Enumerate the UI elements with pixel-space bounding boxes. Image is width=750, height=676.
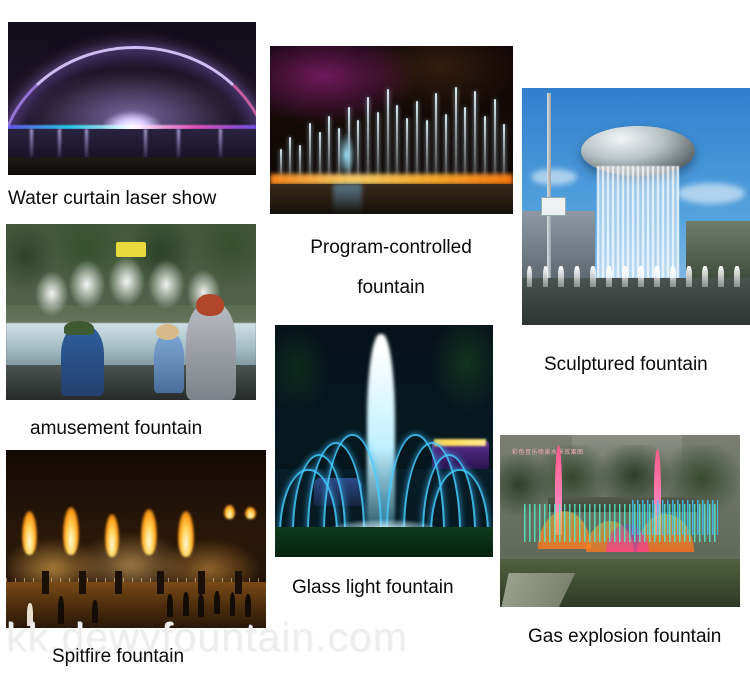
woman-head — [196, 294, 224, 315]
plaza-ground — [522, 278, 750, 325]
jet-array — [270, 76, 513, 180]
garden-path — [501, 573, 609, 607]
water-sheet — [597, 166, 679, 277]
photo-glass-light-fountain[interactable] — [275, 325, 493, 557]
child-head — [156, 324, 179, 340]
caption-program-controlled-fountain: Program-controlled fountain — [284, 228, 498, 308]
person-boy — [61, 326, 104, 396]
caption-glass-light-fountain: Glass light fountain — [292, 575, 502, 601]
photo-gas-explosion-fountain[interactable]: 彩色音乐喷泉水景效果图 — [500, 435, 740, 607]
lake-water — [270, 184, 513, 214]
caption-spitfire-fountain: Spitfire fountain — [52, 644, 272, 670]
caption-gas-explosion-fountain: Gas explosion fountain — [528, 624, 748, 650]
caption-line-2: fountain — [284, 268, 498, 308]
photo-amusement-fountain[interactable] — [6, 224, 256, 400]
fountain-gallery: kk.dewyfountain.com Water curtain laser … — [0, 0, 750, 676]
chinese-overlay-text: 彩色音乐喷泉水景效果图 — [512, 447, 584, 456]
caption-sculptured-fountain: Sculptured fountain — [544, 352, 744, 378]
spark-light — [245, 507, 255, 519]
fire-jet — [141, 509, 157, 555]
photo-program-controlled-fountain[interactable] — [270, 46, 513, 214]
street-sign — [541, 197, 566, 216]
blue-light-core — [338, 133, 355, 177]
fire-jet — [22, 511, 38, 556]
photo-sculptured-fountain[interactable] — [522, 88, 750, 325]
person-child — [154, 333, 184, 393]
hedge-row — [275, 527, 493, 557]
fire-jet — [63, 507, 79, 555]
caption-water-curtain-laser-show: Water curtain laser show — [8, 186, 248, 212]
cloud — [531, 169, 577, 186]
green-cap — [64, 321, 94, 335]
caption-amusement-fountain: amusement fountain — [30, 416, 250, 442]
arching-jets — [279, 432, 488, 534]
spark-light — [224, 505, 234, 519]
fire-jet — [178, 511, 195, 557]
cyan-jet-comb — [632, 500, 718, 534]
photo-water-curtain-laser-show[interactable] — [8, 22, 256, 175]
fire-jet — [105, 514, 119, 557]
water-reflection — [333, 184, 362, 214]
photo-spitfire-fountain[interactable] — [6, 450, 266, 628]
person-woman — [186, 303, 236, 400]
foreground-ground — [8, 157, 256, 175]
caption-line-1: Program-controlled — [284, 228, 498, 268]
